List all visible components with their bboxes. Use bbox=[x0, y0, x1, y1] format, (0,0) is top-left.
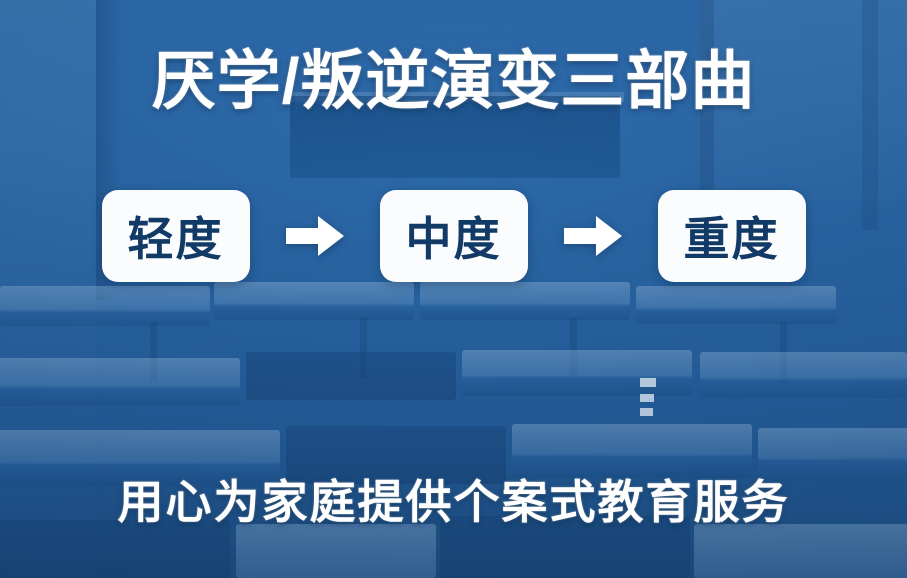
stage-badge-label: 轻度 bbox=[128, 203, 224, 269]
stage-badge-moderate[interactable]: 中度 bbox=[380, 190, 528, 282]
poster: 厌学/叛逆演变三部曲 轻度 中度 重度 用心为家庭提供个案式教育服务 bbox=[0, 0, 907, 578]
arrow-right-icon bbox=[286, 214, 344, 258]
poster-content: 厌学/叛逆演变三部曲 轻度 中度 重度 用心为家庭提供个案式教育服务 bbox=[0, 0, 907, 578]
stage-badge-mild[interactable]: 轻度 bbox=[102, 190, 250, 282]
stage-badge-label: 重度 bbox=[684, 203, 780, 269]
stage-progression: 轻度 中度 重度 bbox=[0, 188, 907, 284]
page-title: 厌学/叛逆演变三部曲 bbox=[0, 48, 907, 115]
stage-badge-label: 中度 bbox=[406, 203, 502, 269]
arrow-right-icon bbox=[564, 214, 622, 258]
stage-badge-severe[interactable]: 重度 bbox=[658, 190, 806, 282]
tagline: 用心为家庭提供个案式教育服务 bbox=[0, 466, 907, 532]
